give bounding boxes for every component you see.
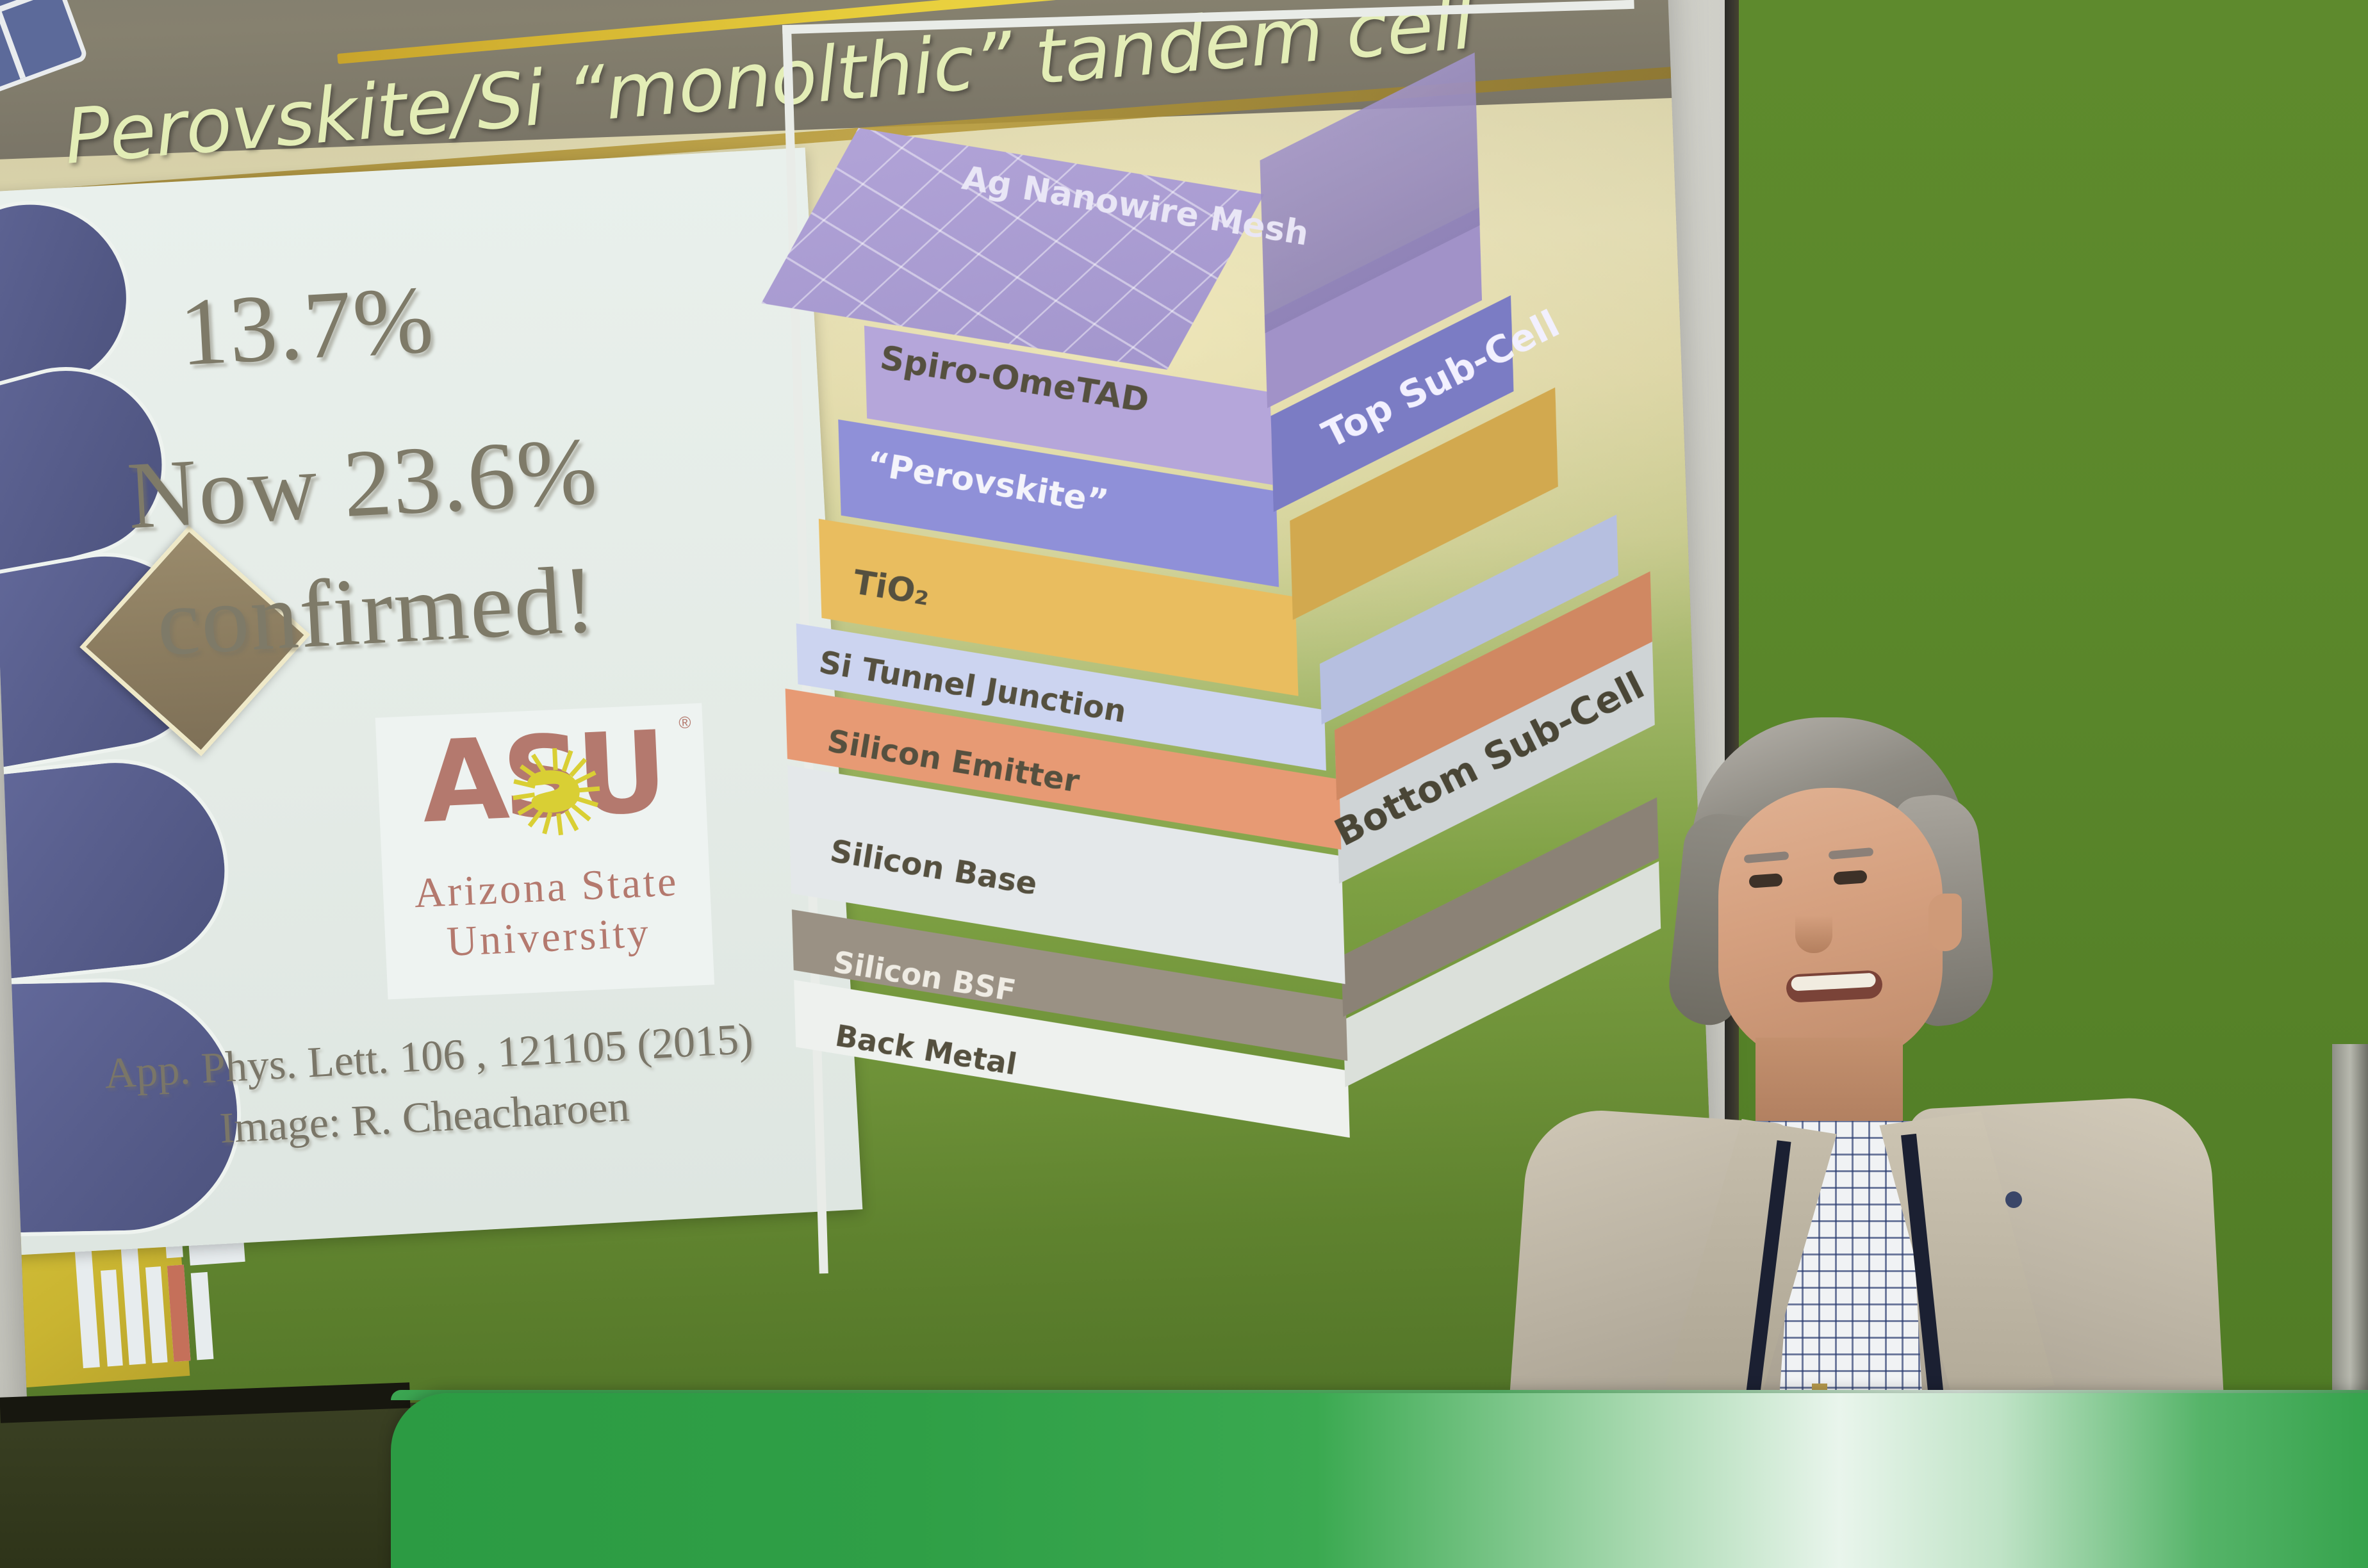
speaker-ear [1928,894,1962,951]
gloved-finger [0,747,238,1008]
efficiency-initial-value: 13.7% [177,264,437,388]
speaker-presenter [1557,717,2326,1422]
image-credit: Image: R. Cheacharoen [218,1081,630,1154]
speaker-eye-right [1833,870,1867,885]
registered-trademark-icon: ® [678,712,692,733]
asu-letters: ASU [375,715,707,842]
podium-shadow [0,1403,448,1568]
podium [391,1393,2368,1568]
screenshot-stage: Perovskite/Si “monolthic” tandem cell 13… [0,0,2368,1568]
tandem-cell-diagram: -energy photons Back Metal Silicon BSF S… [782,0,1671,1273]
efficiency-confirmed-label: confirmed! [154,544,600,678]
right-panel-edge [2332,1044,2368,1403]
speaker-nose [1795,890,1832,953]
asu-logo: ASU [375,703,714,1000]
speaker-eye-left [1748,873,1782,888]
slide-info-panel: 13.7% Now 23.6% confirmed! ASU [0,147,862,1258]
speaker-mouth [1786,970,1883,1003]
speaker-lapel-pin [2005,1191,2022,1208]
efficiency-current-value: Now 23.6% [125,416,601,551]
gloved-finger [0,976,243,1242]
projection-screen: Perovskite/Si “monolthic” tandem cell 13… [0,0,1720,1466]
